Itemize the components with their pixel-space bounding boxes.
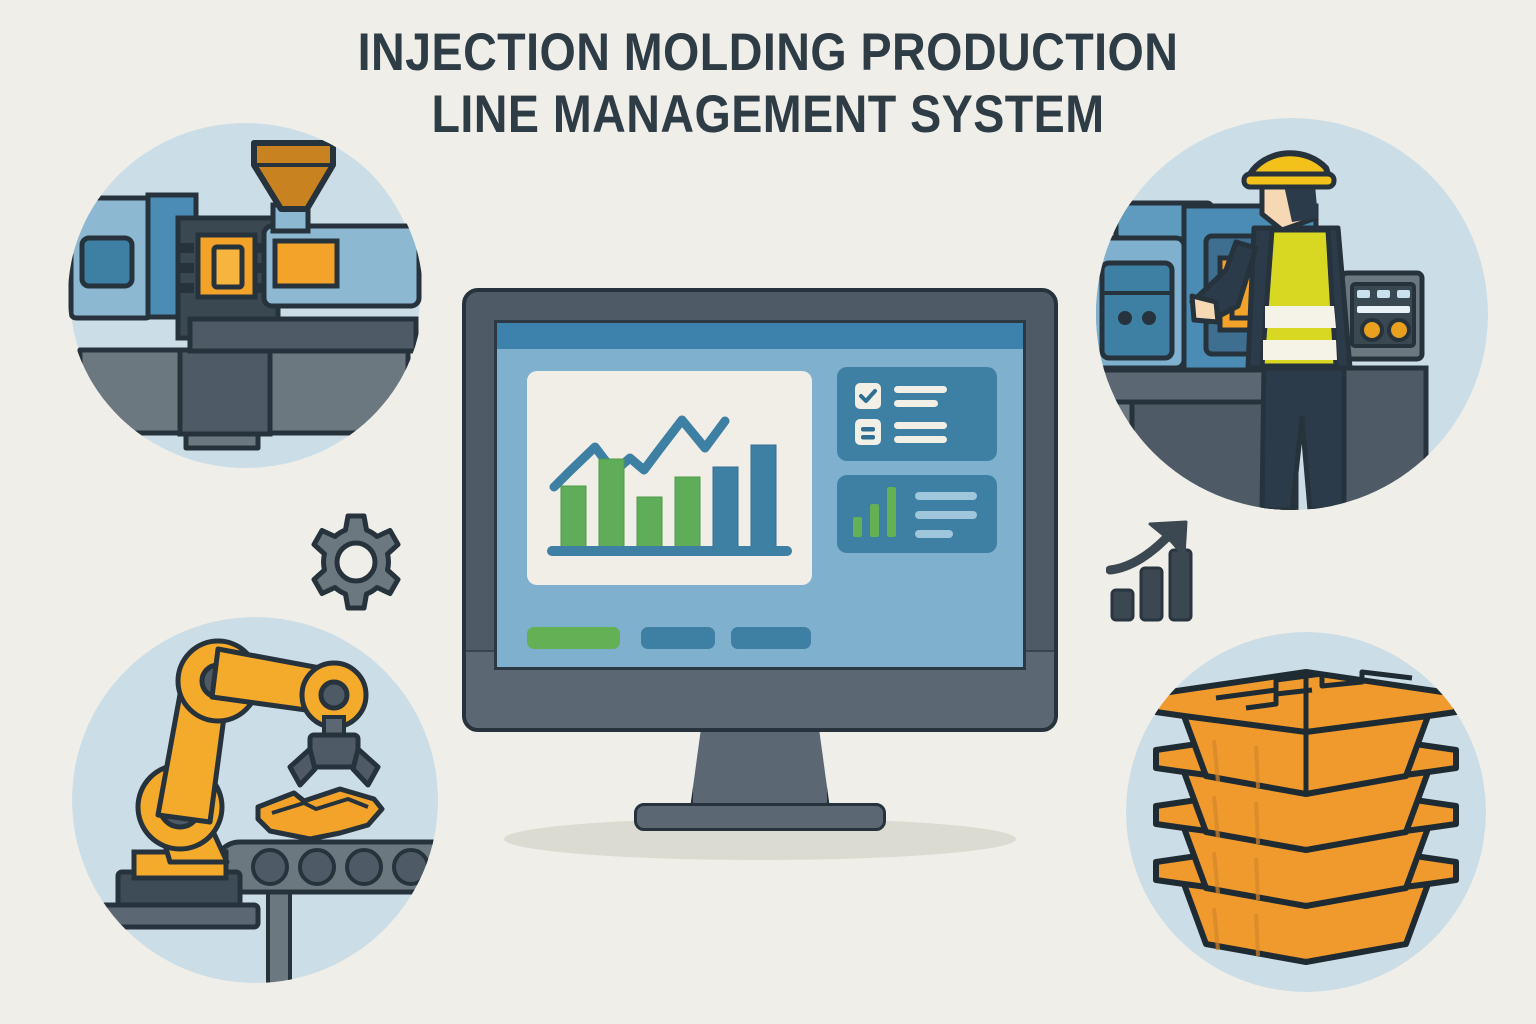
stat-line xyxy=(915,492,977,500)
chart-bar xyxy=(599,459,624,548)
production-trend-chart-card xyxy=(527,371,812,585)
monitor-base xyxy=(634,803,886,831)
mini-bar xyxy=(853,517,862,537)
checklist-row-checked[interactable] xyxy=(855,383,947,409)
machine-illustration xyxy=(68,123,423,468)
checklist-row-text xyxy=(894,422,947,443)
gear-shape xyxy=(304,510,408,614)
chart-bar xyxy=(713,467,738,548)
chart-bar xyxy=(751,445,776,548)
dashboard-screen xyxy=(494,320,1026,670)
screen-header-bar xyxy=(497,323,1023,349)
chart-bar xyxy=(561,486,586,548)
stacked-crates-icon xyxy=(1126,632,1486,992)
mini-stats-lines xyxy=(915,492,977,538)
check-mark-icon xyxy=(855,383,881,409)
monitor-neck xyxy=(690,727,830,809)
robot-arm-conveyor-icon xyxy=(72,617,438,983)
text-line xyxy=(894,422,947,429)
machine-operator-icon xyxy=(1096,118,1488,510)
mini-stats-panel[interactable] xyxy=(837,475,997,553)
task-checklist-panel[interactable] xyxy=(837,367,997,461)
robot-arm-illustration xyxy=(72,617,438,983)
checkbox-checked-icon[interactable] xyxy=(855,383,881,409)
mini-bar xyxy=(887,487,896,537)
text-line xyxy=(894,400,938,407)
crates-illustration xyxy=(1126,632,1486,992)
primary-action-button[interactable] xyxy=(527,627,620,649)
illustration-canvas: INJECTION MOLDING PRODUCTION LINE MANAGE… xyxy=(0,0,1536,1024)
gear-icon xyxy=(304,510,408,614)
production-trend-chart xyxy=(527,371,812,585)
title-line-1: INJECTION MOLDING PRODUCTION xyxy=(92,22,1444,84)
dashboard-monitor xyxy=(462,288,1058,732)
chart-bar xyxy=(637,497,662,548)
text-line xyxy=(894,436,947,443)
checklist-row-text xyxy=(894,386,947,407)
stat-line xyxy=(915,530,953,538)
list-box-icon[interactable] xyxy=(855,419,881,445)
growth-chart-icon xyxy=(1106,518,1210,622)
mini-bar xyxy=(870,504,879,537)
checklist-row-list[interactable] xyxy=(855,419,947,445)
chart-bar xyxy=(675,477,700,548)
secondary-action-button[interactable] xyxy=(641,627,715,649)
operator-illustration xyxy=(1096,118,1488,510)
stat-line xyxy=(915,511,977,519)
list-lines-icon xyxy=(855,419,881,445)
growth-chart-shape xyxy=(1106,518,1210,622)
chart-baseline xyxy=(547,546,792,556)
injection-molding-machine-icon xyxy=(68,123,423,468)
mini-bar-chart xyxy=(853,487,896,537)
text-line xyxy=(894,386,947,393)
tertiary-action-button[interactable] xyxy=(731,627,811,649)
